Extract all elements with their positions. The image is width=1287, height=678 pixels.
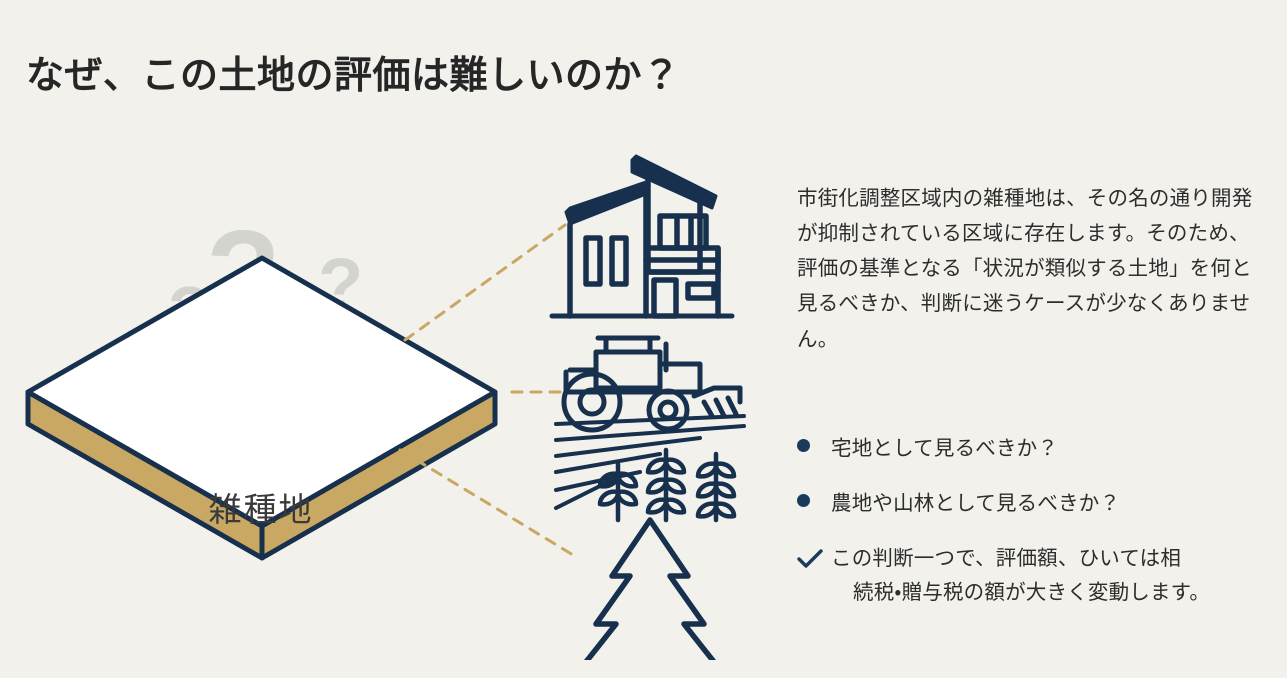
tractor-field-icon: [556, 338, 744, 520]
connector-line-house: [405, 225, 565, 340]
list-item-label-line2: 続税・贈与税の額が大きく変動します。: [831, 576, 1210, 609]
bullet-dot-icon: [797, 432, 831, 452]
slide-root: なぜ、この土地の評価は難しいのか？ ? ? ? ? ?: [0, 0, 1287, 678]
list-item: この判断一つで、評価額、ひいては相 続税・贈与税の額が大きく変動します。: [797, 542, 1259, 608]
list-item: 宅地として見るべきか？: [797, 432, 1259, 465]
bullet-list: 宅地として見るべきか？ 農地や山林として見るべきか？ この判断一つで、評価額、ひ…: [797, 432, 1259, 609]
page-title: なぜ、この土地の評価は難しいのか？: [26, 53, 681, 101]
list-item-label: 農地や山林として見るべきか？: [831, 487, 1120, 520]
land-block: [28, 258, 495, 558]
bullet-dot-icon: [797, 487, 831, 507]
pine-tree-icon: [578, 520, 722, 660]
land-block-top-face: [28, 258, 495, 526]
list-item-label-line1: この判断一つで、評価額、ひいては相: [831, 547, 1181, 570]
list-item-label-multiline: この判断一つで、評価額、ひいては相 続税・贈与税の額が大きく変動します。: [831, 542, 1210, 608]
connector-line-forest: [400, 450, 578, 558]
house-icon: [552, 156, 732, 316]
land-diagram: ? ? ? ? ?: [0, 120, 760, 660]
check-icon: [797, 542, 831, 569]
lead-paragraph: 市街化調整区域内の雑種地は、その名の通り開発が抑制されている区域に存在します。そ…: [797, 181, 1253, 357]
list-item: 農地や山林として見るべきか？: [797, 487, 1259, 520]
list-item-label: 宅地として見るべきか？: [831, 432, 1058, 465]
body-text-column: 市街化調整区域内の雑種地は、その名の通り開発が抑制されている区域に存在します。そ…: [797, 160, 1253, 377]
